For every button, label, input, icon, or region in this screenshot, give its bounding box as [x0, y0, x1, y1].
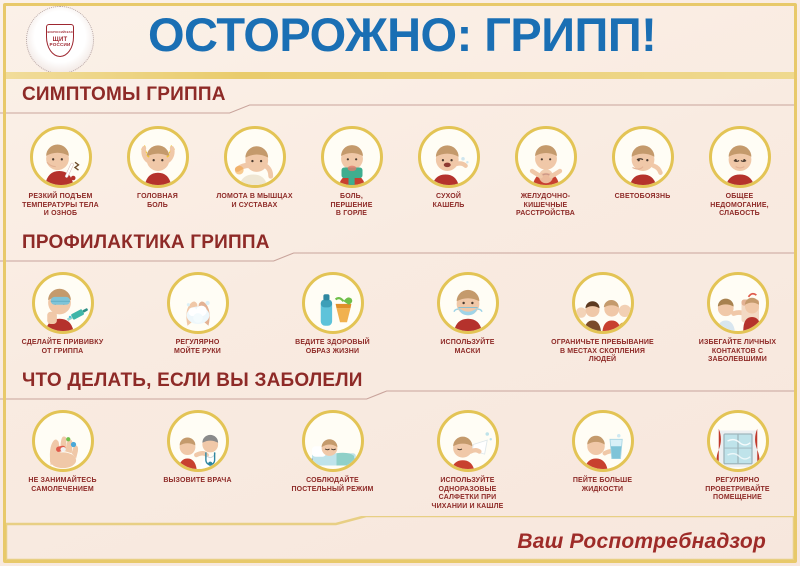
face-mask-icon	[437, 272, 499, 334]
section-divider-rule	[0, 390, 794, 400]
icon-row-symptoms: РЕЗКИЙ ПОДЪЕМ ТЕМПЕРАТУРЫ ТЕЛА И ОЗНОБ Г…	[0, 126, 800, 219]
muscle-joint-ache-icon	[224, 126, 286, 188]
shield-of-russia-emblem-icon: ВСЕРОССИЙСКАЯ ЩИТ РОССИИ	[26, 6, 94, 74]
info-item-label: СУХОЙ КАШЕЛЬ	[433, 193, 465, 210]
poster-header: ВСЕРОССИЙСКАЯ ЩИТ РОССИИ ОСТОРОЖНО: ГРИП…	[0, 0, 800, 76]
info-item: РЕГУЛЯРНО ПРОВЕТРИВАЙТЕ ПОМЕЩЕНИЕ	[683, 410, 792, 503]
info-item: ИСПОЛЬЗУЙТЕ ОДНОРАЗОВЫЕ САЛФЕТКИ ПРИ ЧИХ…	[413, 410, 522, 511]
icon-row-if-you-are-sick: НЕ ЗАНИМАЙТЕСЬ САМОЛЕЧЕНИЕМ ВЫЗОВИТЕ ВРА…	[0, 410, 800, 511]
disposable-tissue-icon	[437, 410, 499, 472]
info-item: ОГРАНИЧЬТЕ ПРЕБЫВАНИЕ В МЕСТАХ СКОПЛЕНИЯ…	[548, 272, 657, 365]
info-item-label: НЕ ЗАНИМАЙТЕСЬ САМОЛЕЧЕНИЕМ	[28, 477, 96, 494]
healthy-lifestyle-icon	[302, 272, 364, 334]
icon-row-prevention: СДЕЛАЙТЕ ПРИВИВКУ ОТ ГРИППА РЕГУЛЯРНО МО…	[0, 272, 800, 365]
info-item: ВЫЗОВИТЕ ВРАЧА	[143, 410, 252, 486]
drink-fluids-icon	[572, 410, 634, 472]
info-item-label: ЖЕЛУДОЧНО- КИШЕЧНЫЕ РАССТРОЙСТВА	[516, 193, 575, 219]
wash-hands-icon	[167, 272, 229, 334]
info-item-label: ЛОМОТА В МЫШЦАХ И СУСТАВАХ	[216, 193, 292, 210]
info-item: СУХОЙ КАШЕЛЬ	[406, 126, 492, 210]
info-item-label: ИСПОЛЬЗУЙТЕ МАСКИ	[440, 339, 494, 356]
info-item: ВЕДИТЕ ЗДОРОВЫЙ ОБРАЗ ЖИЗНИ	[278, 272, 387, 356]
stomach-upset-icon	[515, 126, 577, 188]
shield-graphic: ВСЕРОССИЙСКАЯ ЩИТ РОССИИ	[46, 24, 74, 57]
footer-tagline: Ваш Роспотребнадзор	[517, 530, 766, 554]
info-item-label: ПЕЙТЕ БОЛЬШЕ ЖИДКОСТИ	[573, 477, 632, 494]
section-prevention: ПРОФИЛАКТИКА ГРИППА СДЕЛАЙТЕ ПРИВИВКУ ОТ…	[0, 232, 800, 258]
section-divider-rule	[0, 252, 794, 262]
info-item-label: СОБЛЮДАЙТЕ ПОСТЕЛЬНЫЙ РЕЖИМ	[291, 477, 373, 494]
info-item-label: ГОЛОВНАЯ БОЛЬ	[137, 193, 178, 210]
info-item: БОЛЬ, ПЕРШЕНИЕ В ГОРЛЕ	[309, 126, 395, 219]
info-item: РЕЗКИЙ ПОДЪЕМ ТЕМПЕРАТУРЫ ТЕЛА И ОЗНОБ	[18, 126, 104, 219]
info-item: СОБЛЮДАЙТЕ ПОСТЕЛЬНЫЙ РЕЖИМ	[278, 410, 387, 494]
poster-title: ОСТОРОЖНО: ГРИПП!	[148, 6, 768, 64]
info-item-label: ВЫЗОВИТЕ ВРАЧА	[163, 477, 231, 486]
info-item: СДЕЛАЙТЕ ПРИВИВКУ ОТ ГРИППА	[8, 272, 117, 356]
section-header-symptoms: СИМПТОМЫ ГРИППА	[0, 84, 800, 110]
general-weakness-icon	[709, 126, 771, 188]
photophobia-icon	[612, 126, 674, 188]
dry-cough-icon	[418, 126, 480, 188]
info-item: ГОЛОВНАЯ БОЛЬ	[115, 126, 201, 210]
info-item: СВЕТОБОЯЗНЬ	[600, 126, 686, 202]
section-symptoms: СИМПТОМЫ ГРИППА РЕЗКИЙ ПОДЪЕМ ТЕМПЕРАТУР…	[0, 84, 800, 110]
info-item-label: ВЕДИТЕ ЗДОРОВЫЙ ОБРАЗ ЖИЗНИ	[295, 339, 370, 356]
info-item-label: СДЕЛАЙТЕ ПРИВИВКУ ОТ ГРИППА	[22, 339, 104, 356]
ventilate-room-icon	[707, 410, 769, 472]
vaccination-syringe-icon	[32, 272, 94, 334]
info-item: РЕГУЛЯРНО МОЙТЕ РУКИ	[143, 272, 252, 356]
info-item-label: РЕГУЛЯРНО ПРОВЕТРИВАЙТЕ ПОМЕЩЕНИЕ	[683, 477, 792, 503]
poster-footer: Ваш Роспотребнадзор	[0, 508, 800, 566]
section-if-you-are-sick: ЧТО ДЕЛАТЬ, ЕСЛИ ВЫ ЗАБОЛЕЛИ НЕ ЗАНИМАЙТ…	[0, 370, 800, 396]
section-title: ПРОФИЛАКТИКА ГРИППА	[22, 232, 270, 254]
info-item-label: ИЗБЕГАЙТЕ ЛИЧНЫХ КОНТАКТОВ С ЗАБОЛЕВШИМИ	[683, 339, 792, 365]
section-title: ЧТО ДЕЛАТЬ, ЕСЛИ ВЫ ЗАБОЛЕЛИ	[22, 370, 363, 392]
info-item-label: ОБЩЕЕ НЕДОМОГАНИЕ, СЛАБОСТЬ	[710, 193, 769, 219]
info-item-label: ИСПОЛЬЗУЙТЕ ОДНОРАЗОВЫЕ САЛФЕТКИ ПРИ ЧИХ…	[413, 477, 522, 511]
info-item: ОБЩЕЕ НЕДОМОГАНИЕ, СЛАБОСТЬ	[697, 126, 783, 219]
info-item: ИСПОЛЬЗУЙТЕ МАСКИ	[413, 272, 522, 356]
info-item: НЕ ЗАНИМАЙТЕСЬ САМОЛЕЧЕНИЕМ	[8, 410, 117, 494]
logo-top-text: ВСЕРОССИЙСКАЯ	[47, 32, 72, 35]
headache-icon	[127, 126, 189, 188]
fever-thermometer-icon	[30, 126, 92, 188]
bed-rest-icon	[302, 410, 364, 472]
info-item: ЛОМОТА В МЫШЦАХ И СУСТАВАХ	[212, 126, 298, 210]
logo-line-2: РОССИИ	[49, 43, 70, 48]
avoid-crowds-icon	[572, 272, 634, 334]
influenza-awareness-poster: ВСЕРОССИЙСКАЯ ЩИТ РОССИИ ОСТОРОЖНО: ГРИП…	[0, 0, 800, 566]
no-self-medication-icon	[32, 410, 94, 472]
section-divider-rule	[0, 104, 794, 114]
section-header-if-you-are-sick: ЧТО ДЕЛАТЬ, ЕСЛИ ВЫ ЗАБОЛЕЛИ	[0, 370, 800, 396]
section-header-prevention: ПРОФИЛАКТИКА ГРИППА	[0, 232, 800, 258]
call-doctor-icon	[167, 410, 229, 472]
info-item-label: СВЕТОБОЯЗНЬ	[615, 193, 671, 202]
info-item: ЖЕЛУДОЧНО- КИШЕЧНЫЕ РАССТРОЙСТВА	[503, 126, 589, 219]
sore-throat-icon	[321, 126, 383, 188]
info-item-label: РЕЗКИЙ ПОДЪЕМ ТЕМПЕРАТУРЫ ТЕЛА И ОЗНОБ	[22, 193, 99, 219]
avoid-sick-contact-icon	[707, 272, 769, 334]
info-item-label: БОЛЬ, ПЕРШЕНИЕ В ГОРЛЕ	[330, 193, 372, 219]
section-title: СИМПТОМЫ ГРИППА	[22, 84, 226, 106]
info-item: ИЗБЕГАЙТЕ ЛИЧНЫХ КОНТАКТОВ С ЗАБОЛЕВШИМИ	[683, 272, 792, 365]
gold-divider-strip	[6, 72, 794, 79]
info-item-label: РЕГУЛЯРНО МОЙТЕ РУКИ	[174, 339, 221, 356]
info-item-label: ОГРАНИЧЬТЕ ПРЕБЫВАНИЕ В МЕСТАХ СКОПЛЕНИЯ…	[548, 339, 657, 365]
info-item: ПЕЙТЕ БОЛЬШЕ ЖИДКОСТИ	[548, 410, 657, 494]
